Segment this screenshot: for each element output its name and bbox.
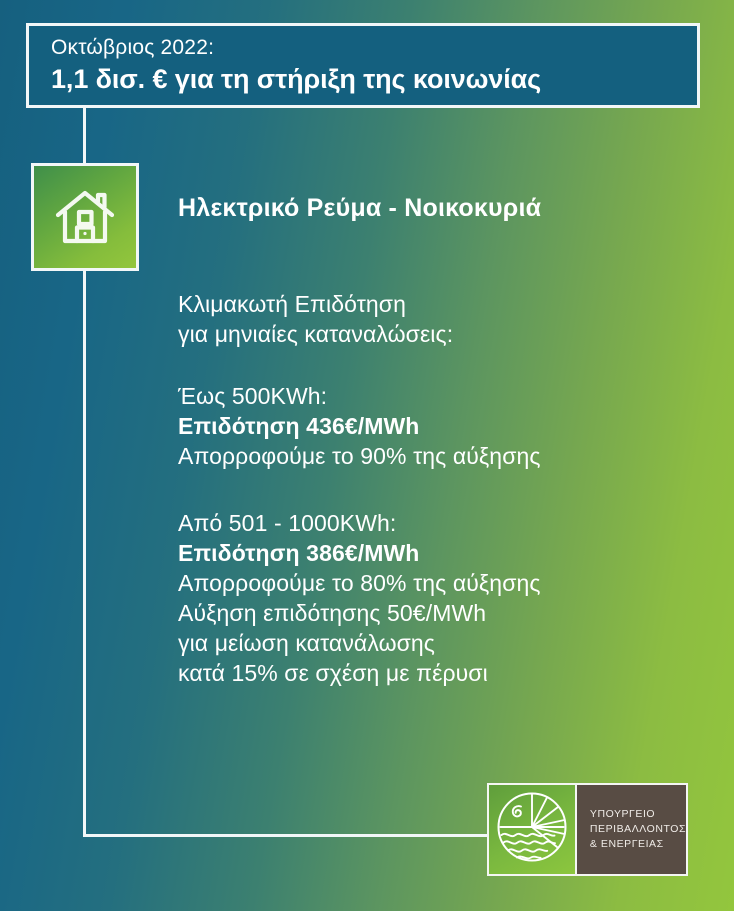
ministry-name-line-1: ΥΠΟΥΡΓΕΙΟ — [590, 807, 686, 822]
ministry-name-panel: ΥΠΟΥΡΓΕΙΟ ΠΕΡΙΒΑΛΛΟΝΤΟΣ & ΕΝΕΡΓΕΙΑΣ — [577, 785, 686, 874]
tier-1-block: Έως 500KWh: Επιδότηση 436€/MWh Απορροφού… — [178, 381, 708, 471]
ministry-name-line-2: ΠΕΡΙΒΑΛΛΟΝΤΟΣ — [590, 822, 686, 837]
section-title: Ηλεκτρικό Ρεύμα - Νοικοκυριά — [178, 192, 708, 224]
tier-2-range: Από 501 - 1000KWh: — [178, 508, 708, 538]
intro-line-1: Κλιμακωτή Επιδότηση — [178, 289, 708, 319]
ministry-emblem-icon — [495, 790, 569, 869]
intro-block: Κλιμακωτή Επιδότηση για μηνιαίες καταναλ… — [178, 289, 708, 349]
tier-2-subsidy: Επιδότηση 386€/MWh — [178, 538, 708, 568]
ministry-emblem-panel — [489, 785, 577, 874]
connector-line-horizontal — [83, 834, 487, 837]
ministry-logo: ΥΠΟΥΡΓΕΙΟ ΠΕΡΙΒΑΛΛΟΝΤΟΣ & ΕΝΕΡΓΕΙΑΣ — [487, 783, 688, 876]
house-icon — [54, 188, 116, 246]
content-column: Ηλεκτρικό Ρεύμα - Νοικοκυριά Κλιμακωτή Ε… — [178, 192, 708, 688]
tier-2-bonus-line-2: για μείωση κατανάλωσης — [178, 628, 708, 658]
tier-2-absorption: Απορροφούμε το 80% της αύξησης — [178, 568, 708, 598]
infographic-poster: Οκτώβριος 2022: 1,1 δισ. € για τη στήριξ… — [0, 0, 734, 911]
tier-2-bonus-line-1: Αύξηση επιδότησης 50€/MWh — [178, 598, 708, 628]
ministry-name-line-3: & ΕΝΕΡΓΕΙΑΣ — [590, 837, 686, 852]
header-headline: 1,1 δισ. € για τη στήριξη της κοινωνίας — [51, 62, 697, 96]
header-date-label: Οκτώβριος 2022: — [51, 35, 697, 61]
header-banner: Οκτώβριος 2022: 1,1 δισ. € για τη στήριξ… — [26, 23, 700, 108]
tier-1-range: Έως 500KWh: — [178, 381, 708, 411]
tier-1-absorption: Απορροφούμε το 90% της αύξησης — [178, 441, 708, 471]
tier-2-block: Από 501 - 1000KWh: Επιδότηση 386€/MWh Απ… — [178, 508, 708, 688]
intro-line-2: για μηνιαίες καταναλώσεις: — [178, 319, 708, 349]
tier-1-subsidy: Επιδότηση 436€/MWh — [178, 411, 708, 441]
house-icon-tile — [31, 163, 139, 271]
tier-2-bonus-line-3: κατά 15% σε σχέση με πέρυσι — [178, 658, 708, 688]
